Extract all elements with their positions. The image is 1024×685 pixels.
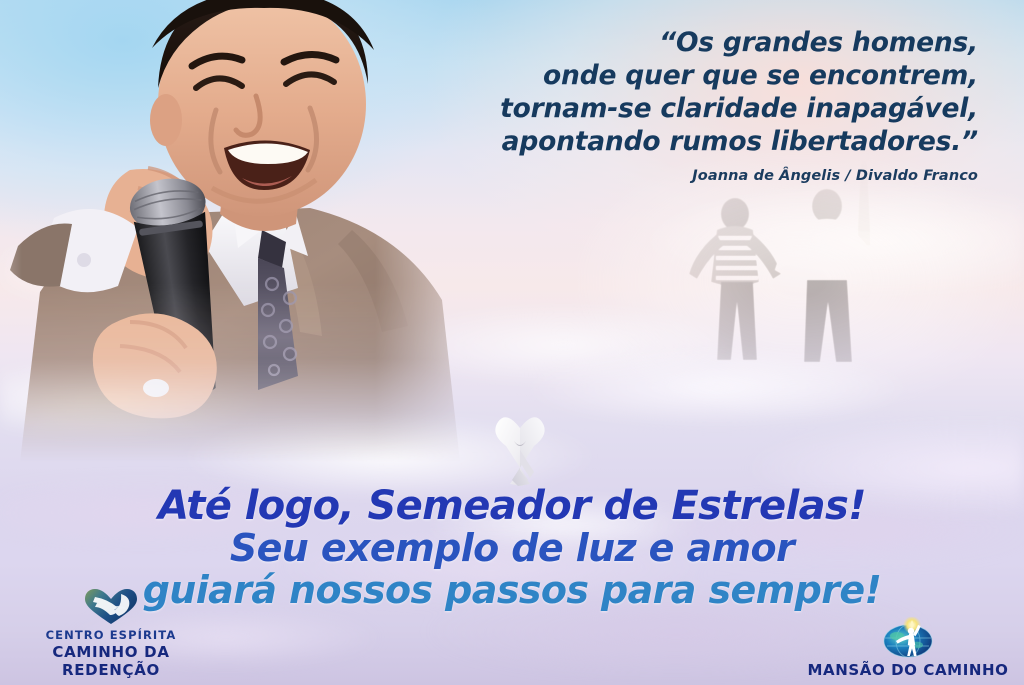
headline-line-2: Seu exemplo de luz e amor: [0, 528, 1024, 569]
logo-left-line-1: CENTRO ESPÍRITA: [6, 628, 216, 642]
quote-line-1: “Os grandes homens,: [338, 26, 978, 59]
globe-figure-icon: [881, 617, 935, 659]
quote-line-2: onde quer que se encontrem,: [338, 59, 978, 92]
quote-block: “Os grandes homens, onde quer que se enc…: [338, 26, 978, 184]
white-awareness-ribbon-icon: [489, 408, 551, 486]
logo-mansao-do-caminho: MANSÃO DO CAMINHO: [798, 617, 1018, 679]
faded-photo-two-people-walking-icon: [575, 150, 1024, 440]
quote-line-3: tornam-se claridade inapagável,: [338, 92, 978, 125]
memorial-poster: “Os grandes homens, onde quer que se enc…: [0, 0, 1024, 685]
logo-left-line-2: CAMINHO DA REDENÇÃO: [6, 643, 216, 679]
logo-right-line-2: MANSÃO DO CAMINHO: [798, 661, 1018, 679]
heart-hands-icon: [83, 588, 139, 626]
quote-line-4: apontando rumos libertadores.”: [338, 125, 978, 158]
quote-attribution: Joanna de Ângelis / Divaldo Franco: [338, 168, 978, 184]
logo-centro-espirita-caminho-da-redencao: CENTRO ESPÍRITA CAMINHO DA REDENÇÃO: [6, 588, 216, 679]
cloud-layer-upper: [0, 150, 1024, 450]
headline-line-1: Até logo, Semeador de Estrelas!: [0, 484, 1024, 528]
